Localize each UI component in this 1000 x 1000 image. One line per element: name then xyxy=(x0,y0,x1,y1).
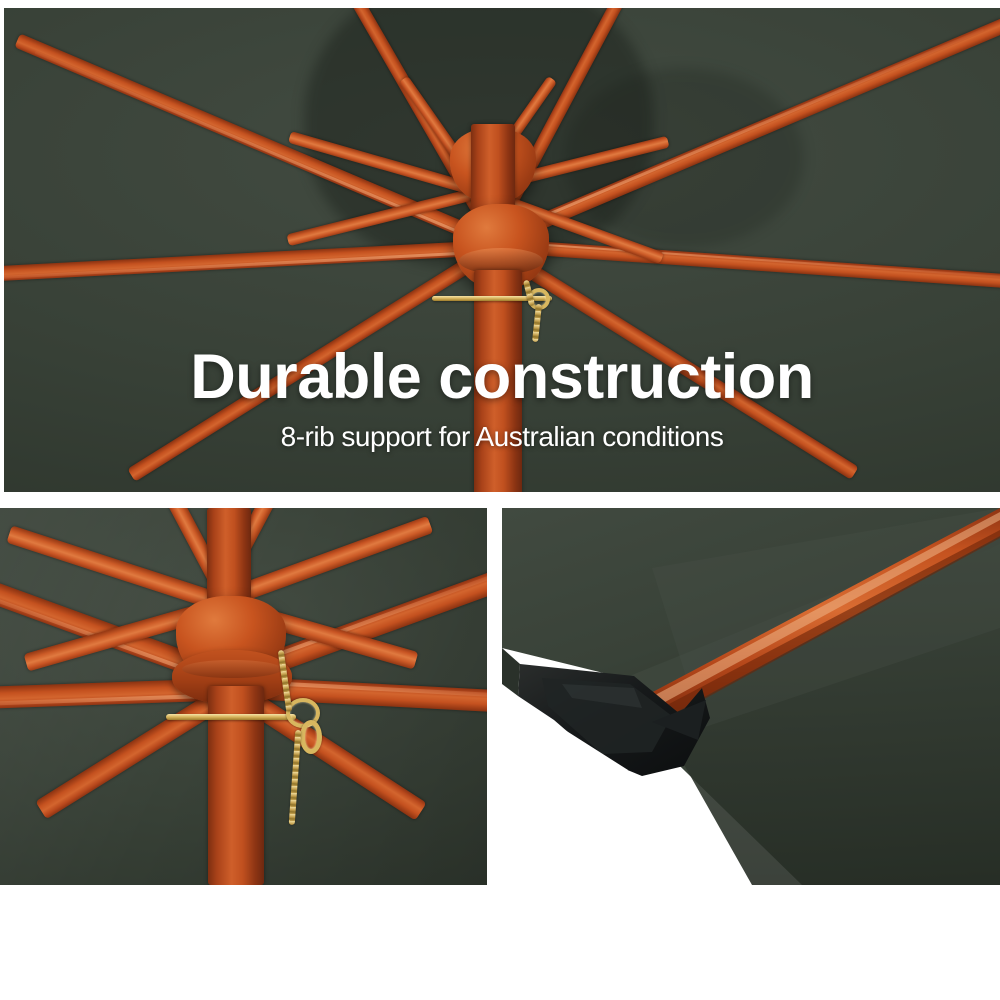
left-white-margin xyxy=(0,0,4,492)
panel-locking-hub-closeup: Secured locking xyxy=(0,508,487,885)
canopy-corner-illustration xyxy=(502,508,1000,885)
page-title: Durable construction xyxy=(4,346,1000,409)
umbrella-hub-band xyxy=(182,660,282,678)
brass-locking-pin xyxy=(166,714,296,720)
panel-umbrella-hub-wide-shot: Durable construction 8-rib support for A… xyxy=(4,8,1000,492)
page-subtitle: 8-rib support for Australian conditions xyxy=(4,423,1000,451)
panel-divider-vertical xyxy=(487,492,502,892)
bottom-white-margin xyxy=(0,885,1000,1000)
brass-chain-link-large xyxy=(300,720,322,754)
top-white-margin xyxy=(0,0,1000,8)
promo-image: Durable construction 8-rib support for A… xyxy=(0,0,1000,1000)
panel-canopy-corner-closeup: Solid wood frame xyxy=(502,508,1000,885)
